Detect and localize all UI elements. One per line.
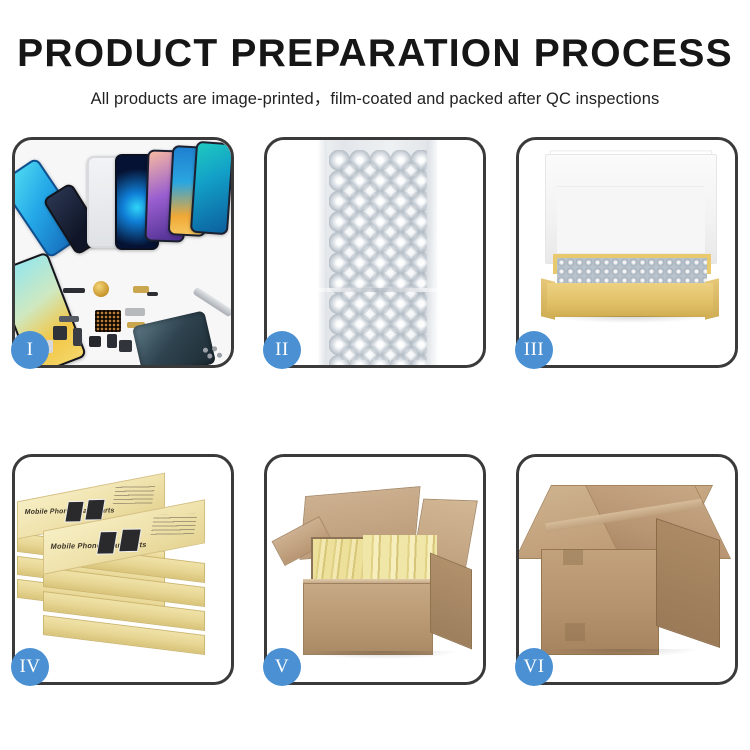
panel-3-image <box>519 140 735 365</box>
carton-side-panel <box>430 553 472 650</box>
carton-seam-tab-top <box>563 549 583 565</box>
connector-part-1 <box>63 288 85 293</box>
panel-1-image <box>15 140 231 365</box>
panel-6-badge: VI <box>515 648 553 686</box>
flex-cable-part-2 <box>59 316 79 322</box>
carton-seam-tab-bottom <box>565 623 585 641</box>
panel-5-image <box>267 457 483 682</box>
panel-3-badge: III <box>515 331 553 369</box>
box-screen-image-1 <box>64 501 84 523</box>
carton-contents-boxes-right <box>363 535 437 583</box>
page-header: PRODUCT PREPARATION PROCESS All products… <box>0 0 750 109</box>
screws-group <box>201 346 223 360</box>
panel-5-badge: V <box>263 648 301 686</box>
carton-front-panel <box>303 583 433 655</box>
bubble-wrap-edge-right <box>427 140 439 365</box>
sealed-carton-front-panel <box>541 549 659 655</box>
process-panel-3[interactable]: III <box>516 137 738 368</box>
mailer-front-panel <box>547 283 713 317</box>
small-module-part-3 <box>89 336 101 347</box>
sealed-carton-side-panel <box>656 518 720 648</box>
page-subtitle: All products are image-printed，film-coat… <box>0 85 750 109</box>
mailer-shadow <box>553 316 709 323</box>
box-screen-image-3 <box>96 531 118 555</box>
chip-grid-part <box>95 310 121 332</box>
box-stack: Mobile Phone Spare Parts Mobile Phone Sp… <box>15 457 231 682</box>
small-module-part-1 <box>53 326 67 340</box>
box-screen-image-2 <box>84 499 105 521</box>
process-panel-grid: I II III <box>12 137 738 685</box>
small-module-part-2 <box>73 328 82 346</box>
silver-connector-part <box>125 308 145 316</box>
box-spec-lines-1 <box>113 485 156 504</box>
process-panel-5[interactable]: V <box>264 454 486 685</box>
sealed-carton-shadow <box>547 649 701 657</box>
box-spec-lines-2 <box>151 514 198 535</box>
process-panel-1[interactable]: I <box>12 137 234 368</box>
bubble-pattern-secondary <box>339 160 427 360</box>
small-module-part-4 <box>107 334 117 348</box>
box-screen-image-4 <box>118 528 142 552</box>
process-panel-6[interactable]: VI <box>516 454 738 685</box>
panel-2-image <box>267 140 483 365</box>
bubble-wrap-edge-left <box>317 140 327 365</box>
panel-6-image <box>519 457 735 682</box>
bubble-wrap-seam <box>319 288 437 292</box>
panel-4-badge: IV <box>11 648 49 686</box>
panel-4-image: Mobile Phone Spare Parts Mobile Phone Sp… <box>15 457 231 682</box>
camera-module-part <box>119 340 132 352</box>
page-title: PRODUCT PREPARATION PROCESS <box>0 34 750 75</box>
panel-1-badge: I <box>11 331 49 369</box>
carton-shadow <box>307 651 457 659</box>
copper-coil-part <box>93 281 109 297</box>
phone-teal-display <box>190 141 231 235</box>
panel-2-badge: II <box>263 331 301 369</box>
mailer-lid-inner <box>557 186 705 253</box>
process-panel-4[interactable]: Mobile Phone Spare Parts Mobile Phone Sp… <box>12 454 234 685</box>
mailer-bubble-contents <box>557 258 707 286</box>
connector-part-2 <box>147 292 158 296</box>
process-panel-2[interactable]: II <box>264 137 486 368</box>
